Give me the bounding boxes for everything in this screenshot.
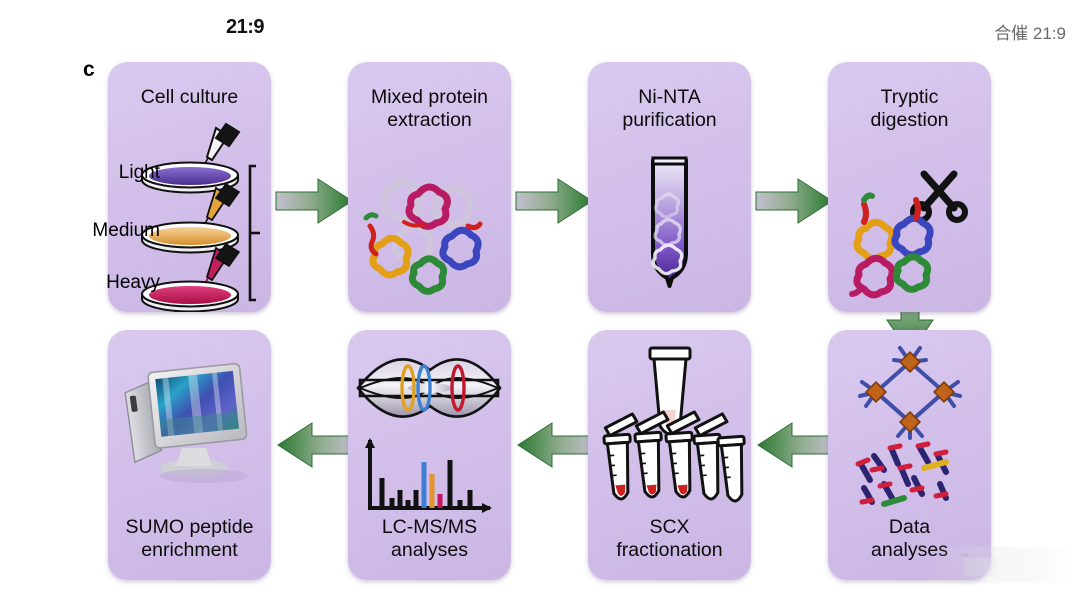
step-title-line1: Tryptic [828,86,991,109]
step-title-line1: SCX [588,516,751,539]
step-title-ni-nta-purification: Ni-NTA purification [588,86,751,132]
arrow-left-6 [516,420,594,470]
step-title-sumo-peptide-enrichment: SUMO peptide enrichment [108,516,271,562]
step-panel-lc-ms-ms-analyses[interactable]: LC-MS/MS analyses [348,330,511,580]
step-panel-sumo-peptide-enrichment[interactable]: SUMO peptide enrichment [108,330,271,580]
arrow-right-3 [756,176,834,226]
step-title-line2: digestion [828,109,991,132]
computer-illustration [108,356,271,486]
step-title-mixed-protein-extraction: Mixed protein extraction [348,86,511,132]
step-title-scx-fractionation: SCX fractionation [588,516,751,562]
step-title-line2: fractionation [588,539,751,562]
figure-canvas: 21:9 合催 21:9 c [0,0,1080,607]
corner-watermark-label: 合催 21:9 [994,19,1066,44]
watermark-dot-icon: ✑ [960,549,969,562]
step-title-line1: SUMO peptide [108,516,271,539]
arrow-right-1 [276,176,354,226]
ni-nta-column-illustration [588,154,751,294]
step-title-line1: Data [828,516,991,539]
step-title-line1: LC-MS/MS [348,516,511,539]
data-analyses-illustration [828,338,991,528]
dish-label-light: Light [98,162,160,184]
step-panel-data-analyses[interactable]: Data analyses [828,330,991,580]
step-title-line1: Mixed protein [348,86,511,109]
aspect-ratio-label: 21:9 [226,16,264,39]
step-panel-mixed-protein-extraction[interactable]: Mixed protein extraction [348,62,511,312]
bottom-watermark [924,547,1074,583]
step-title-cell-culture: Cell culture [108,86,271,109]
mixed-protein-illustration [348,170,511,302]
arrow-right-2 [516,176,594,226]
arrow-left-5 [756,420,834,470]
dish-label-medium: Medium [84,220,160,242]
tryptic-digestion-illustration [828,154,991,304]
step-panel-ni-nta-purification[interactable]: Ni-NTA purification [588,62,751,312]
step-title-lc-ms-ms-analyses: LC-MS/MS analyses [348,516,511,562]
step-title-line2: enrichment [108,539,271,562]
spectrum-chart [365,438,492,513]
panel-letter-label: c [83,58,95,82]
step-title-line2: extraction [348,109,511,132]
step-title-line2: purification [588,109,751,132]
step-panel-scx-fractionation[interactable]: SCX fractionation [588,330,751,580]
lc-ms-ms-illustration [348,340,511,530]
step-panel-tryptic-digestion[interactable]: Tryptic digestion [828,62,991,312]
step-title-line1: Ni-NTA [588,86,751,109]
step-title-line2: analyses [348,539,511,562]
step-title-tryptic-digestion: Tryptic digestion [828,86,991,132]
dish-label-heavy: Heavy [88,272,160,294]
scissors-icon [913,174,965,220]
scx-fractionation-illustration [588,342,751,522]
mass-spectrometer-icon [358,359,500,416]
arrow-left-7 [276,420,354,470]
